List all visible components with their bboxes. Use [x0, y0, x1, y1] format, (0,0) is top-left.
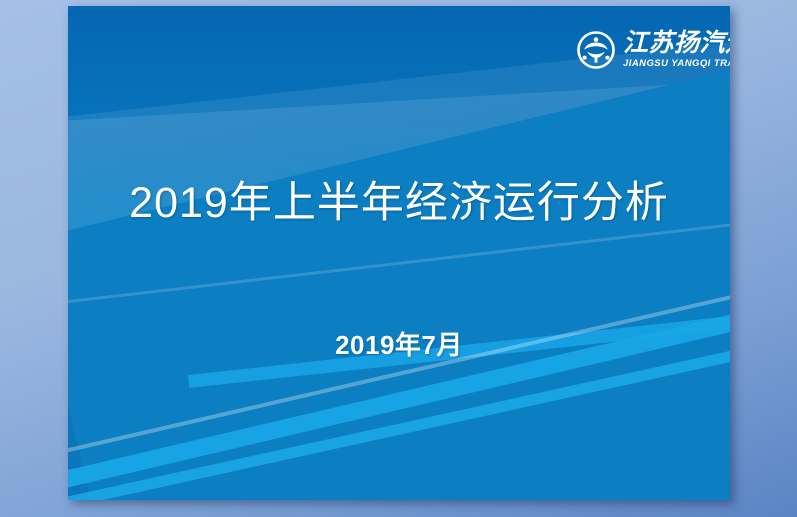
- logo-english-name: JIANGSU YANGQI TRANSPORT GROUP: [623, 59, 730, 69]
- logo-wordmark: 江苏扬汽运输集团 JIANGSU YANGQI TRANSPORT GROUP: [623, 31, 730, 69]
- decorative-stripe-bright: [68, 249, 730, 494]
- slide-subtitle: 2019年7月: [68, 325, 730, 362]
- slide-title: 2019年上半年经济运行分析: [68, 168, 730, 230]
- decorative-stripe-lower: [68, 288, 730, 500]
- jiangsu-yangqi-emblem-icon: [576, 30, 616, 70]
- logo-chinese-name: 江苏扬汽运输集团: [623, 31, 730, 56]
- decorative-wedge-primary: [68, 6, 730, 500]
- presentation-viewport: 江苏扬汽运输集团 JIANGSU YANGQI TRANSPORT GROUP …: [0, 0, 797, 517]
- slide-canvas[interactable]: 江苏扬汽运输集团 JIANGSU YANGQI TRANSPORT GROUP …: [68, 6, 730, 500]
- company-logo: 江苏扬汽运输集团 JIANGSU YANGQI TRANSPORT GROUP: [576, 30, 730, 70]
